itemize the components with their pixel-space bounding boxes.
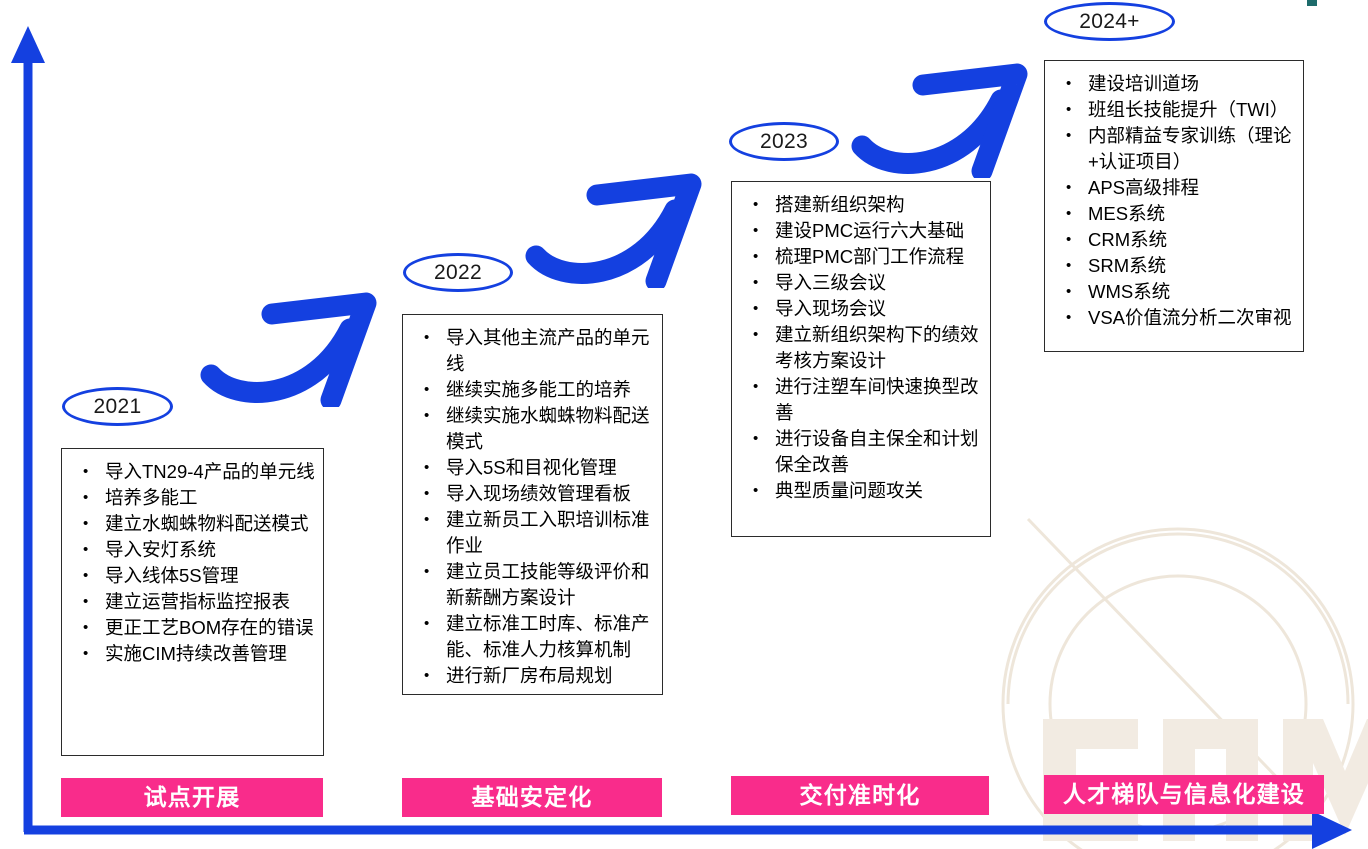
year-label-2022: 2022	[434, 262, 482, 283]
phase-banner-2021[interactable]: 试点开展	[61, 778, 323, 817]
item-list-2022: 导入其他主流产品的单元线 继续实施多能工的培养 继续实施水蜘蛛物料配送模式 导入…	[409, 325, 654, 689]
year-pill-2023[interactable]: 2023	[729, 122, 839, 161]
list-item: 梳理PMC部门工作流程	[738, 244, 982, 270]
content-box-2021: 导入TN29-4产品的单元线 培养多能工 建立水蜘蛛物料配送模式 导入安灯系统 …	[61, 448, 324, 756]
year-pill-2022[interactable]: 2022	[403, 253, 513, 292]
phase-banner-label: 基础安定化	[472, 786, 593, 809]
list-item: WMS系统	[1051, 279, 1295, 305]
year-pill-2024[interactable]: 2024+	[1044, 2, 1175, 41]
list-item: 建立运营指标监控报表	[68, 589, 315, 615]
growth-arrow-2021-to-2022	[195, 282, 405, 407]
list-item: 搭建新组织架构	[738, 192, 982, 218]
list-item: 内部精益专家训练（理论+认证项目）	[1051, 123, 1295, 175]
list-item: 更正工艺BOM存在的错误	[68, 615, 315, 641]
list-item: 导入其他主流产品的单元线	[409, 325, 654, 377]
phase-banner-2023[interactable]: 交付准时化	[731, 776, 989, 815]
item-list-2024: 建设培训道场 班组长技能提升（TWI） 内部精益专家训练（理论+认证项目） AP…	[1051, 71, 1295, 331]
phase-banner-label: 人才梯队与信息化建设	[1063, 783, 1305, 806]
list-item: 导入线体5S管理	[68, 563, 315, 589]
list-item: 建立水蜘蛛物料配送模式	[68, 511, 315, 537]
list-item: 进行新厂房布局规划	[409, 663, 654, 689]
corner-fragment-icon	[1307, 0, 1317, 6]
list-item: 导入TN29-4产品的单元线	[68, 459, 315, 485]
list-item: 进行设备自主保全和计划保全改善	[738, 426, 982, 478]
year-label-2021: 2021	[94, 396, 142, 417]
list-item: 实施CIM持续改善管理	[68, 641, 315, 667]
list-item: 培养多能工	[68, 485, 315, 511]
list-item: MES系统	[1051, 201, 1295, 227]
list-item: 进行注塑车间快速换型改善	[738, 374, 982, 426]
content-box-2023: 搭建新组织架构 建设PMC运行六大基础 梳理PMC部门工作流程 导入三级会议 导…	[731, 181, 991, 537]
roadmap-slide: 2021 导入TN29-4产品的单元线 培养多能工 建立水蜘蛛物料配送模式 导入…	[0, 0, 1368, 849]
growth-arrow-2023-to-2024	[846, 53, 1056, 178]
content-box-2022: 导入其他主流产品的单元线 继续实施多能工的培养 继续实施水蜘蛛物料配送模式 导入…	[402, 314, 663, 695]
list-item: 班组长技能提升（TWI）	[1051, 97, 1295, 123]
list-item: 建设PMC运行六大基础	[738, 218, 982, 244]
list-item: 建设培训道场	[1051, 71, 1295, 97]
list-item: VSA价值流分析二次审视	[1051, 305, 1295, 331]
year-label-2023: 2023	[760, 131, 808, 152]
phase-banner-2024[interactable]: 人才梯队与信息化建设	[1044, 775, 1324, 814]
list-item: 典型质量问题攻关	[738, 478, 982, 504]
list-item: CRM系统	[1051, 227, 1295, 253]
list-item: 建立新员工入职培训标准作业	[409, 507, 654, 559]
list-item: 建立新组织架构下的绩效考核方案设计	[738, 322, 982, 374]
list-item: 导入现场会议	[738, 296, 982, 322]
list-item: APS高级排程	[1051, 175, 1295, 201]
item-list-2021: 导入TN29-4产品的单元线 培养多能工 建立水蜘蛛物料配送模式 导入安灯系统 …	[68, 459, 315, 667]
list-item: 导入5S和目视化管理	[409, 455, 654, 481]
content-box-2024: 建设培训道场 班组长技能提升（TWI） 内部精益专家训练（理论+认证项目） AP…	[1044, 60, 1304, 352]
list-item: 继续实施多能工的培养	[409, 377, 654, 403]
list-item: 继续实施水蜘蛛物料配送模式	[409, 403, 654, 455]
list-item: SRM系统	[1051, 253, 1295, 279]
list-item: 导入三级会议	[738, 270, 982, 296]
year-pill-2021[interactable]: 2021	[62, 387, 173, 426]
list-item: 建立员工技能等级评价和新薪酬方案设计	[409, 559, 654, 611]
phase-banner-2022[interactable]: 基础安定化	[402, 778, 662, 817]
phase-banner-label: 试点开展	[144, 786, 241, 809]
item-list-2023: 搭建新组织架构 建设PMC运行六大基础 梳理PMC部门工作流程 导入三级会议 导…	[738, 192, 982, 504]
phase-banner-label: 交付准时化	[800, 784, 921, 807]
list-item: 导入现场绩效管理看板	[409, 481, 654, 507]
list-item: 建立标准工时库、标准产能、标准人力核算机制	[409, 611, 654, 663]
year-label-2024: 2024+	[1079, 11, 1139, 32]
vertical-axis-arrow	[11, 26, 45, 832]
growth-arrow-2022-to-2023	[520, 163, 730, 288]
list-item: 导入安灯系统	[68, 537, 315, 563]
